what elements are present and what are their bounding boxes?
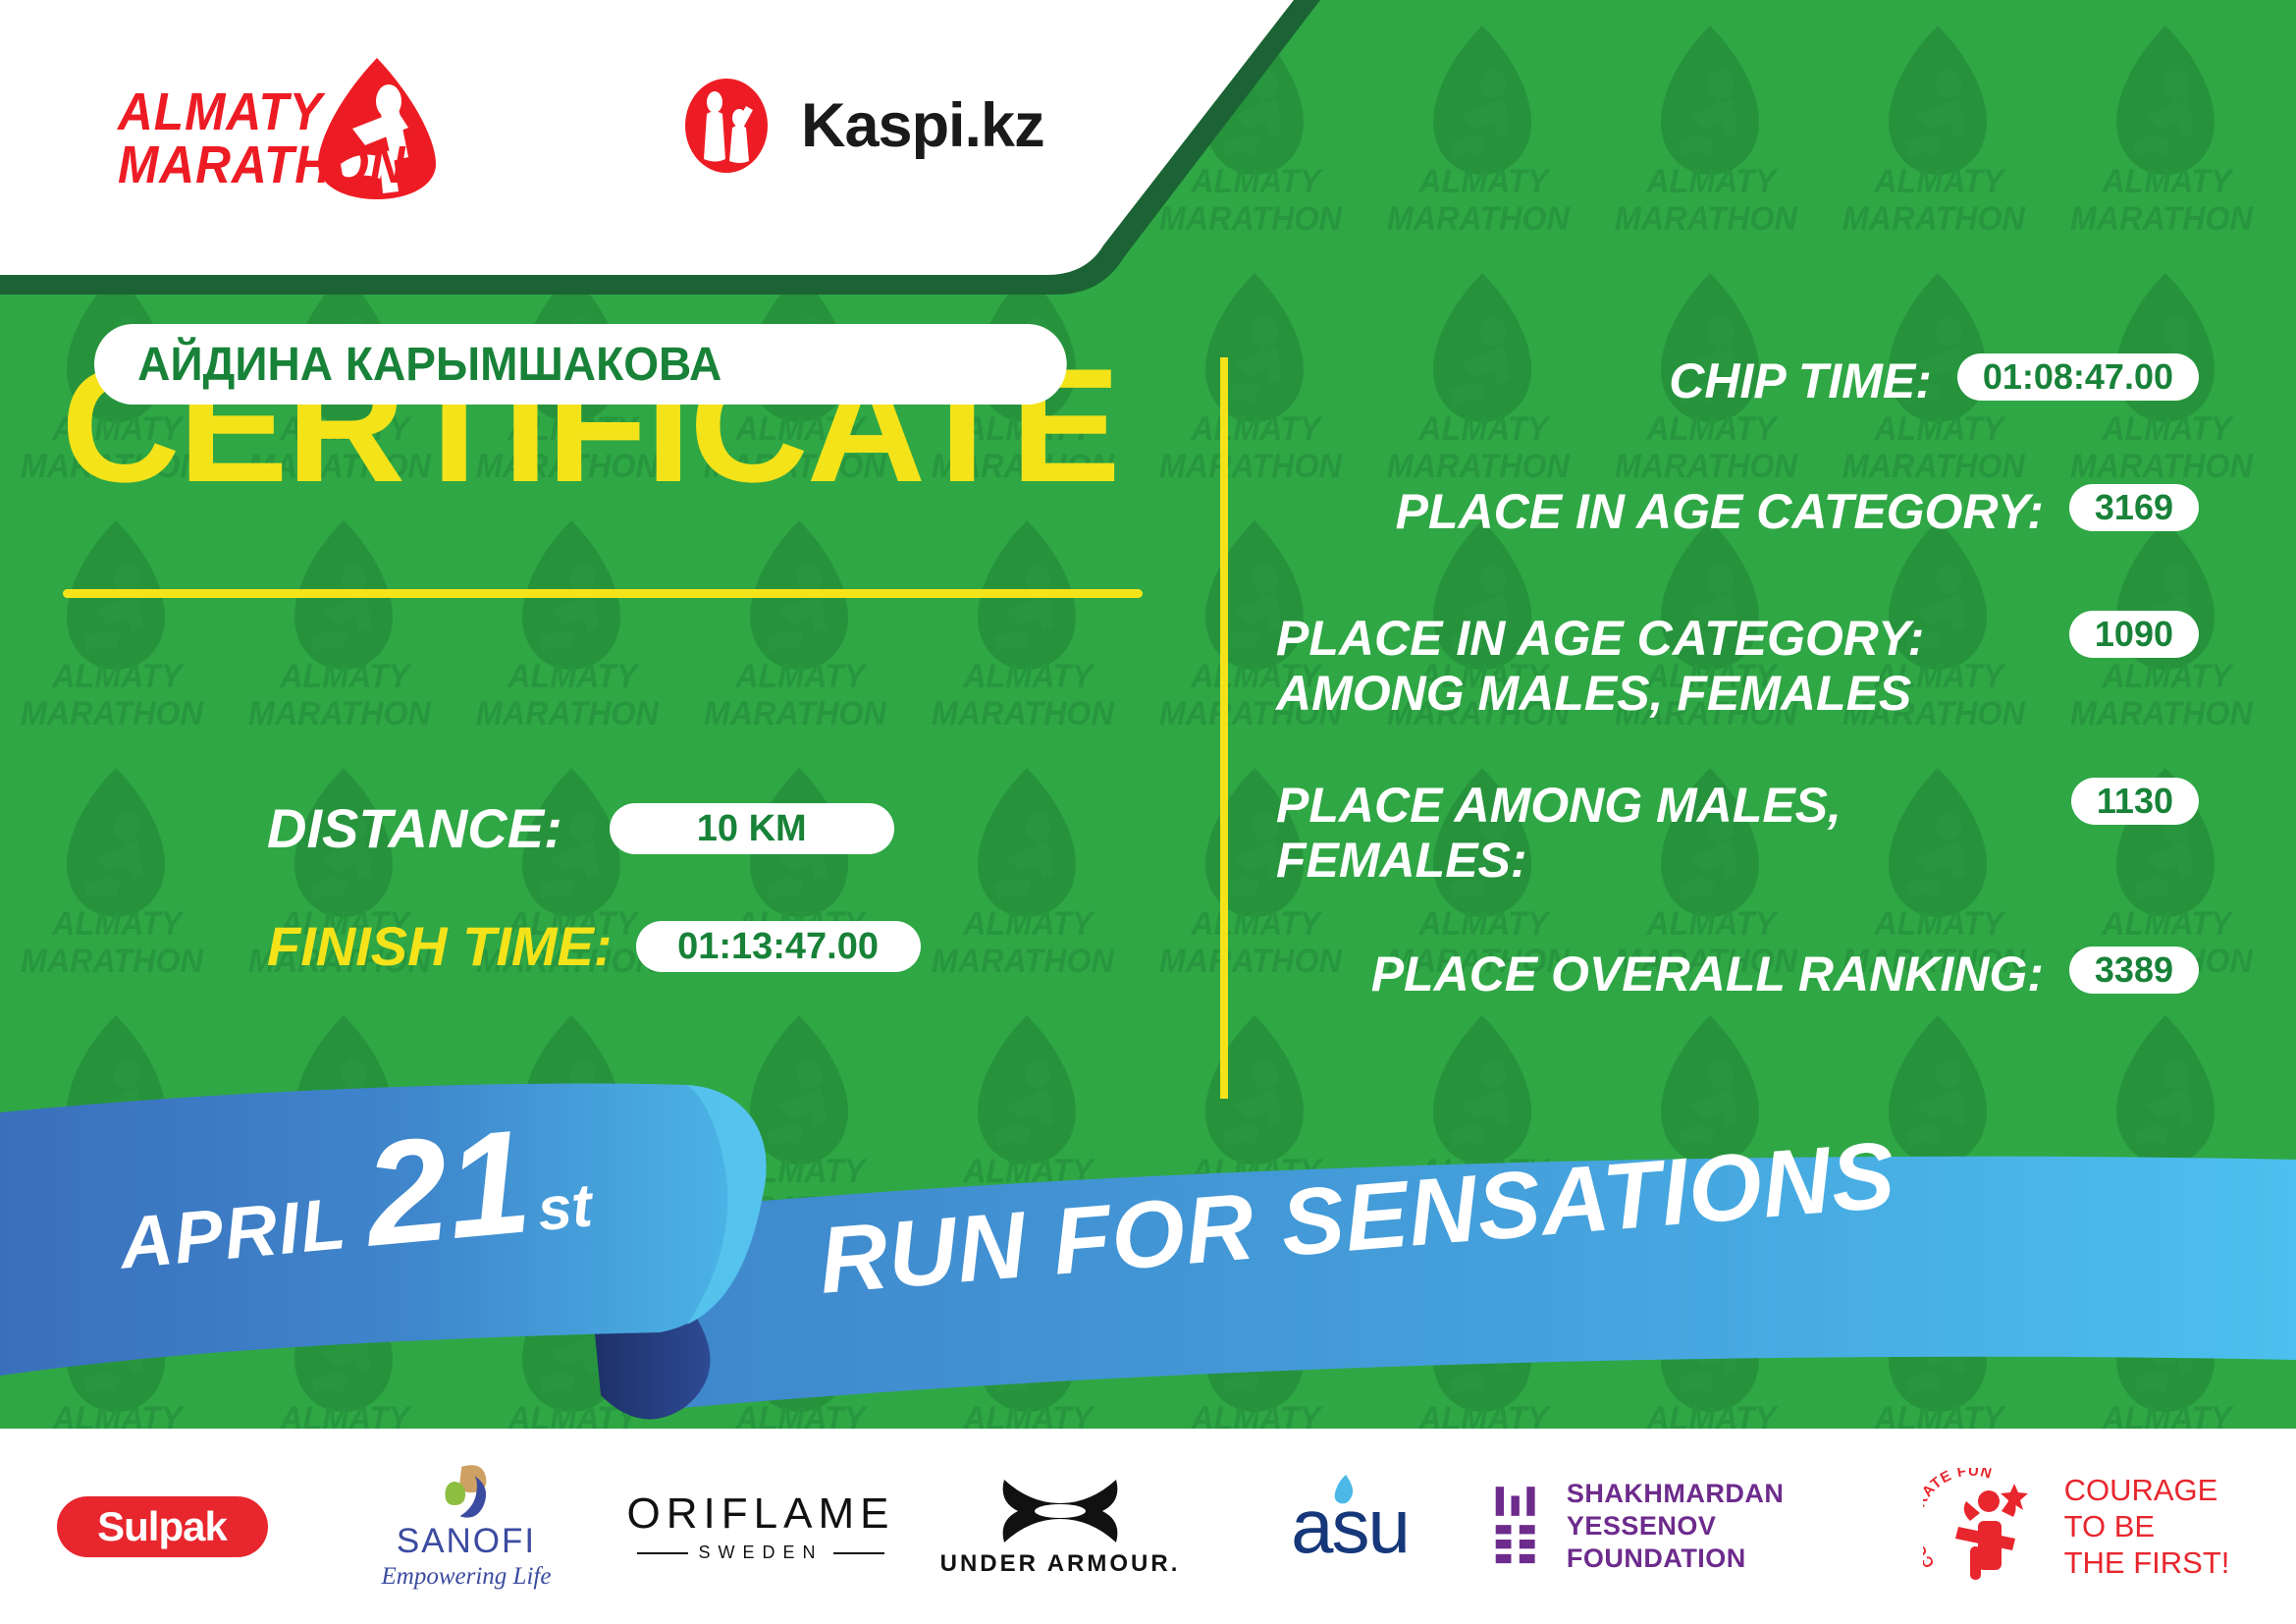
result-value: 3169	[2069, 484, 2199, 531]
event-day-suffix: st	[535, 1170, 595, 1245]
result-row: PLACE IN AGE CATEGORY: 3169	[1276, 484, 2199, 539]
header-logos: ALMATY MARATHON Kaspi.kz	[0, 0, 1335, 280]
yessenov-wordmark: SHAKHMARDAN YESSENOV FOUNDATION	[1567, 1478, 1914, 1575]
result-label: PLACE IN AGE CATEGORY:	[1276, 484, 2044, 539]
result-value: 3389	[2069, 947, 2199, 994]
almaty-marathon-logo: ALMATY MARATHON	[118, 54, 442, 226]
distance-value: 10 KM	[610, 803, 894, 854]
athlete-name-field: АЙДИНА КАРЫМШАКОВА	[94, 324, 1067, 405]
finish-time-value: 01:13:47.00	[636, 921, 921, 972]
sponsor-bar: Sulpak SANOFI Empowering Life ORIFLAME S…	[0, 1429, 2296, 1624]
finish-time-row: FINISH TIME: 01:13:47.00	[267, 918, 921, 975]
sponsor-sulpak: Sulpak	[0, 1463, 324, 1591]
kaspi-wordmark: Kaspi.kz	[801, 90, 1044, 161]
result-label: CHIP TIME:	[1276, 353, 1932, 408]
result-label: PLACE IN AGE CATEGORY: AMONG MALES, FEMA…	[1276, 611, 2044, 721]
result-row: PLACE AMONG MALES, FEMALES: 1130	[1276, 778, 2199, 888]
sulpak-wordmark: Sulpak	[57, 1496, 268, 1557]
result-value: 1130	[2071, 778, 2199, 825]
kaspi-logo: Kaspi.kz	[677, 77, 1044, 175]
asu-droplet-icon	[1332, 1474, 1358, 1507]
courage-wordmark: COURAGE TO BE THE FIRST!	[2064, 1472, 2230, 1581]
result-label: PLACE AMONG MALES, FEMALES:	[1276, 778, 2046, 888]
sanofi-wordmark: SANOFI	[397, 1522, 536, 1561]
sponsor-under-armour: UNDER ARMOUR.	[913, 1463, 1207, 1591]
oriflame-wordmark: ORIFLAME	[627, 1489, 895, 1539]
sanofi-mark-icon	[432, 1463, 501, 1520]
oriflame-sub-row: SWEDEN	[637, 1543, 883, 1563]
distance-row: DISTANCE: 10 KM	[267, 800, 894, 857]
result-row: PLACE OVERALL RANKING: 3389	[1276, 947, 2199, 1001]
oriflame-tagline: SWEDEN	[698, 1543, 823, 1563]
kaspi-figures-icon	[677, 77, 775, 175]
event-day: 21	[360, 1111, 536, 1264]
result-value: 01:08:47.00	[1957, 353, 2199, 401]
sponsor-oriflame: ORIFLAME SWEDEN	[609, 1463, 913, 1591]
distance-label: DISTANCE:	[267, 800, 562, 857]
yessenov-mark-icon	[1492, 1482, 1545, 1572]
certificate-canvas: ALMATY MARATHON ALMATY MARATHON	[0, 0, 2296, 1624]
asu-wordmark: asu	[1291, 1482, 1409, 1571]
result-row: PLACE IN AGE CATEGORY: AMONG MALES, FEMA…	[1276, 611, 2199, 721]
result-label: PLACE OVERALL RANKING:	[1276, 947, 2044, 1001]
vertical-divider	[1220, 357, 1228, 1099]
sponsor-sanofi: SANOFI Empowering Life	[324, 1463, 609, 1591]
sanofi-tagline: Empowering Life	[382, 1563, 552, 1591]
sponsor-yessenov-foundation: SHAKHMARDAN YESSENOV FOUNDATION	[1492, 1463, 1914, 1591]
sponsor-asu: asu	[1207, 1463, 1492, 1591]
courage-figure-icon: CORPORATE FUND	[1923, 1468, 2051, 1586]
oriflame-rule-left	[637, 1552, 688, 1554]
result-value: 1090	[2069, 611, 2199, 658]
oriflame-rule-right	[833, 1552, 884, 1554]
result-row: CHIP TIME: 01:08:47.00	[1276, 353, 2199, 408]
under-armour-logo-icon	[996, 1476, 1124, 1544]
sponsor-courage-to-be-first: CORPORATE FUND COURAGE TO BE THE FIRST!	[1914, 1463, 2238, 1591]
title-underline	[63, 589, 1143, 598]
finish-time-label: FINISH TIME:	[267, 918, 613, 975]
almaty-marathon-wordmark: ALMATY MARATHON	[118, 85, 405, 191]
under-armour-wordmark: UNDER ARMOUR.	[940, 1550, 1181, 1578]
